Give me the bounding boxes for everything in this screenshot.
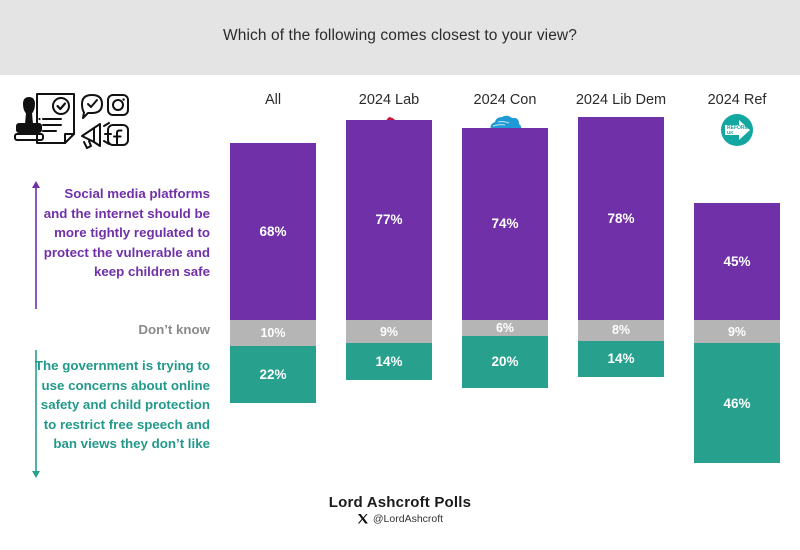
bar-column-libdem: 78%8%14%: [563, 160, 679, 460]
bar-column-all: 68%10%22%: [215, 160, 331, 460]
reform-uk-logo: REFORM UK: [714, 113, 760, 147]
category-label-disagree: The government is trying to use concerns…: [30, 356, 210, 454]
category-label-dont-know: Don’t know: [40, 320, 210, 339]
category-labels: Social media platforms and the internet …: [0, 178, 212, 478]
bar-column-con: 74%6%20%: [447, 160, 563, 460]
x-logo-icon: [357, 513, 369, 525]
instagram-icon: [108, 95, 128, 115]
column-header-label: 2024 Lib Dem: [576, 92, 666, 108]
bar-segment-agree[interactable]: 68%: [230, 143, 316, 320]
bar-column-lab: 77%9%14%: [331, 160, 447, 460]
chart-root: Which of the following comes closest to …: [0, 0, 800, 550]
column-header-label: 2024 Con: [474, 92, 537, 108]
bar-stack: 78%8%14%: [578, 117, 664, 377]
bar-segment-dk[interactable]: 8%: [578, 320, 664, 341]
speech-bubble-check-icon: [82, 95, 102, 118]
bar-segment-dk[interactable]: 9%: [346, 320, 432, 343]
megaphone-icon: [82, 123, 111, 148]
bar-segment-agree[interactable]: 78%: [578, 117, 664, 320]
bar-chart-plot: 68%10%22%77%9%14%74%6%20%78%8%14%45%9%46…: [215, 160, 795, 460]
svg-text:UK: UK: [727, 130, 734, 135]
bar-segment-dk[interactable]: 6%: [462, 320, 548, 336]
category-label-agree: Social media platforms and the internet …: [40, 184, 210, 282]
column-header-label: All: [265, 92, 281, 108]
page-title: Which of the following comes closest to …: [0, 27, 800, 45]
footer-handle: @LordAshcroft: [373, 513, 443, 525]
bar-segment-agree[interactable]: 77%: [346, 120, 432, 320]
bar-segment-disagree[interactable]: 14%: [578, 341, 664, 377]
column-header-label: 2024 Lab: [359, 92, 419, 108]
brand-icon-cluster: [10, 84, 132, 156]
column-logo-none: [250, 113, 296, 147]
bar-stack: 45%9%46%: [694, 203, 780, 463]
bar-segment-agree[interactable]: 74%: [462, 128, 548, 320]
bar-segment-disagree[interactable]: 20%: [462, 336, 548, 388]
bar-segment-dk[interactable]: 10%: [230, 320, 316, 346]
bar-segment-disagree[interactable]: 14%: [346, 343, 432, 379]
bar-segment-disagree[interactable]: 22%: [230, 346, 316, 403]
bar-column-ref: 45%9%46%: [679, 160, 795, 460]
footer-handle-row: @LordAshcroft: [0, 513, 800, 525]
column-header-label: 2024 Ref: [708, 92, 767, 108]
footer-title: Lord Ashcroft Polls: [0, 494, 800, 511]
bar-segment-agree[interactable]: 45%: [694, 203, 780, 320]
column-header-ref: 2024 Ref REFORM UK: [679, 92, 795, 154]
bar-segment-disagree[interactable]: 46%: [694, 343, 780, 463]
bar-stack: 74%6%20%: [462, 128, 548, 388]
bar-segment-dk[interactable]: 9%: [694, 320, 780, 343]
bar-stack: 68%10%22%: [230, 143, 316, 403]
bar-stack: 77%9%14%: [346, 120, 432, 380]
brand-icons-svg: [10, 84, 132, 156]
footer: Lord Ashcroft Polls @LordAshcroft: [0, 494, 800, 525]
